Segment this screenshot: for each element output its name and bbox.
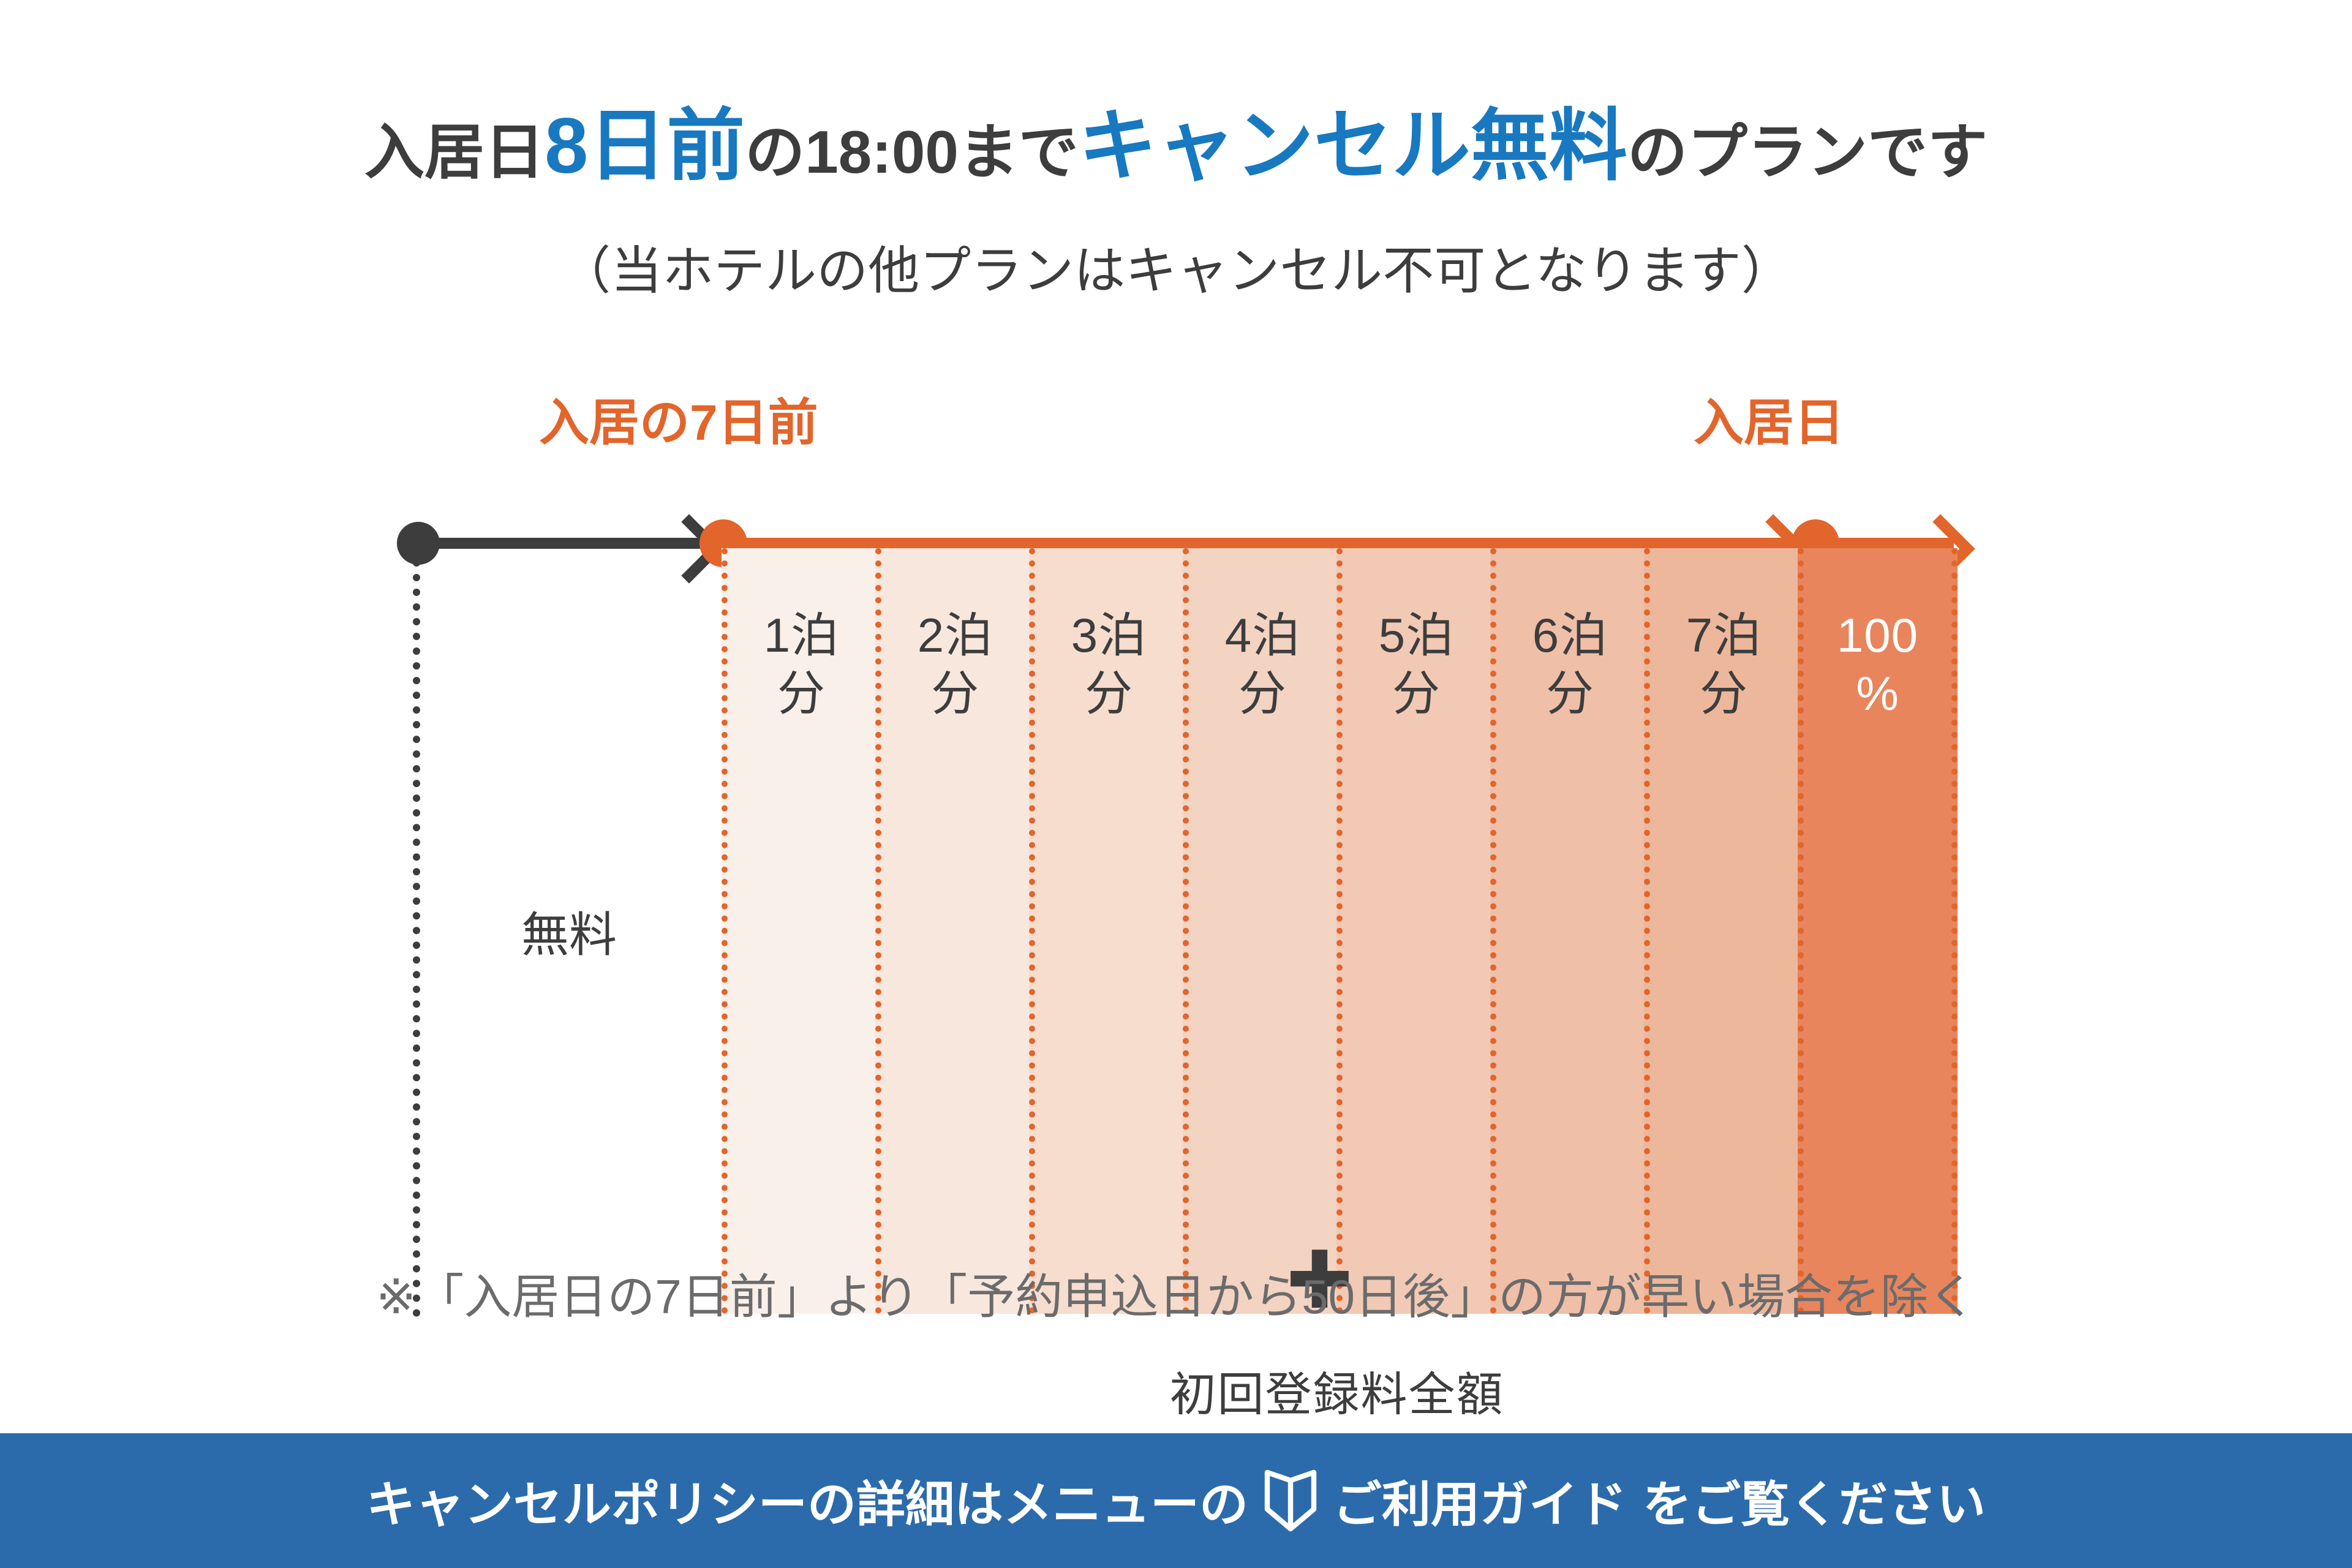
charge-column-line2: 分: [1392, 665, 1441, 723]
charge-column-line2: 分: [931, 665, 979, 723]
headline-highlight-days: 8日前: [545, 102, 745, 190]
guide-book-icon: [1264, 1469, 1317, 1532]
charge-column-line2: 分: [1085, 665, 1133, 723]
footnote-text: ※「入居日の7日前」より「予約申込日から50日後」の方が早い場合を除く: [0, 1259, 2352, 1327]
charge-column-line1: 6泊: [1532, 606, 1608, 665]
banner-text-after: をご覧ください: [1643, 1465, 1986, 1536]
charge-column-line2: 分: [1238, 665, 1287, 723]
marker-label-checkin-day: 入居日: [1694, 398, 1844, 448]
charge-column-line2: 分: [1700, 665, 1748, 723]
charge-column-line1: 5泊: [1379, 606, 1454, 665]
headline-part3: の18:00まで: [745, 118, 1079, 186]
charge-column: 2泊 分: [875, 548, 1029, 1314]
charge-column-line1: 100: [1837, 606, 1918, 665]
charge-column: 5泊 分: [1336, 548, 1490, 1314]
banner-guide-label[interactable]: ご利用ガイド: [1333, 1465, 1627, 1536]
free-period-label: 無料: [417, 548, 722, 1314]
charge-column-full: 100 %: [1798, 548, 1958, 1314]
marker-label-seven-days-before: 入居の7日前: [539, 398, 818, 448]
headline-part1: 入居日: [364, 118, 545, 186]
charge-column-line2: %: [1856, 665, 1899, 723]
charge-column: 3泊 分: [1029, 548, 1183, 1314]
guide-banner[interactable]: キャンセルポリシーの詳細はメニューの ご利用ガイド をご覧ください: [0, 1433, 2352, 1568]
banner-text-before: キャンセルポリシーの詳細はメニューの: [366, 1465, 1248, 1536]
charge-column-line1: 3泊: [1071, 606, 1147, 665]
page-title: 入居日8日前の18:00までキャンセル無料のプランです: [0, 107, 2352, 186]
charge-column: 4泊 分: [1183, 548, 1336, 1314]
page-subtitle: （当ホテルの他プランはキャンセル不可となります）: [0, 245, 2352, 296]
registration-fee-pill: 初回登録料全額: [769, 1341, 1905, 1439]
charge-column: 1泊 分: [722, 548, 875, 1314]
charge-column-line1: 7泊: [1686, 606, 1762, 665]
charge-column-line2: 分: [1546, 665, 1594, 723]
charge-columns: 1泊 分 2泊 分 3泊 分 4泊 分 5泊 分 6泊 分 7泊 分 100 %: [722, 548, 1958, 1314]
charge-column-line1: 4泊: [1225, 606, 1300, 665]
headline-part5: のプランです: [1627, 118, 1988, 186]
charge-column-line1: 1泊: [764, 606, 839, 665]
headline-highlight-free: キャンセル無料: [1079, 102, 1627, 190]
charge-column-line2: 分: [777, 665, 826, 723]
charge-column-line1: 2泊: [918, 606, 993, 665]
charge-column: 6泊 分: [1490, 548, 1644, 1314]
cancellation-timeline-diagram: 入居の7日前 入居日 無料 1泊 分 2泊 分 3泊 分 4泊 分 5泊 分 6: [0, 380, 2352, 1237]
charge-column: 7泊 分: [1644, 548, 1798, 1314]
